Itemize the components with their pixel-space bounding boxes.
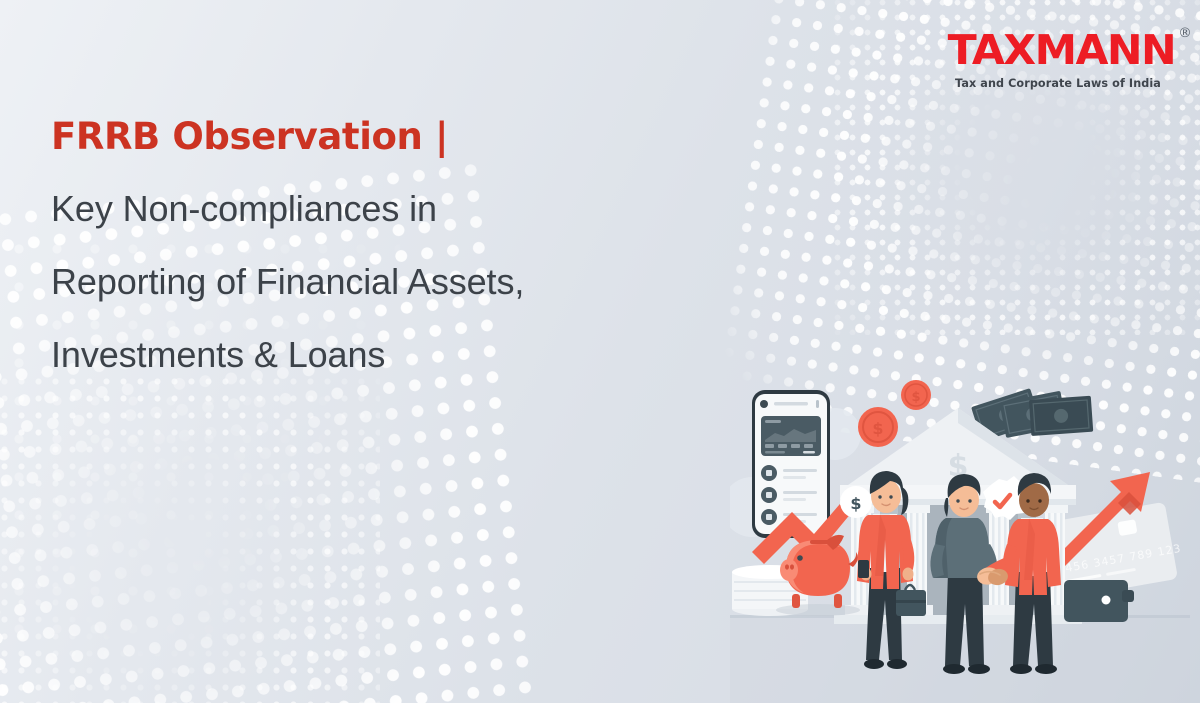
- phone-avatar-icon: [760, 400, 768, 408]
- coin-coral-large: $: [858, 407, 898, 447]
- held-phone-icon: [858, 560, 869, 578]
- banking-finance-illustration: $ $: [730, 372, 1190, 703]
- svg-text:$: $: [850, 494, 861, 513]
- banner-root: TAXMANN ® Tax and Corporate Laws of Indi…: [0, 0, 1200, 703]
- registered-trademark-icon: ®: [1178, 27, 1192, 40]
- headline-subtitle-line-1: Key Non-compliances in: [51, 191, 741, 227]
- phone-menu-icon: [816, 400, 819, 408]
- piggy-snout: [780, 559, 798, 581]
- headline-block: FRRB Observation | Key Non-compliances i…: [51, 118, 741, 373]
- logo-wordmark-text: TAXMANN: [948, 26, 1176, 74]
- taxmann-logo: TAXMANN ® Tax and Corporate Laws of Indi…: [952, 30, 1164, 90]
- briefcase: [1064, 580, 1134, 622]
- coin-coral-small: $: [901, 380, 931, 410]
- halftone-dots-bottom-left-inner: [0, 373, 380, 703]
- logo-wordmark: TAXMANN ®: [948, 30, 1176, 71]
- logo-tagline: Tax and Corporate Laws of India: [952, 77, 1164, 90]
- piggy-coin-slot: [810, 540, 832, 544]
- headline-subtitle-line-3: Investments & Loans: [51, 337, 741, 373]
- headline-subtitle-line-2: Reporting of Financial Assets,: [51, 264, 741, 300]
- svg-text:$: $: [911, 390, 920, 405]
- piggy-eye: [797, 555, 803, 561]
- dollar-badge: $: [840, 486, 872, 518]
- headline-title: FRRB Observation |: [51, 118, 741, 155]
- svg-text:$: $: [872, 419, 883, 438]
